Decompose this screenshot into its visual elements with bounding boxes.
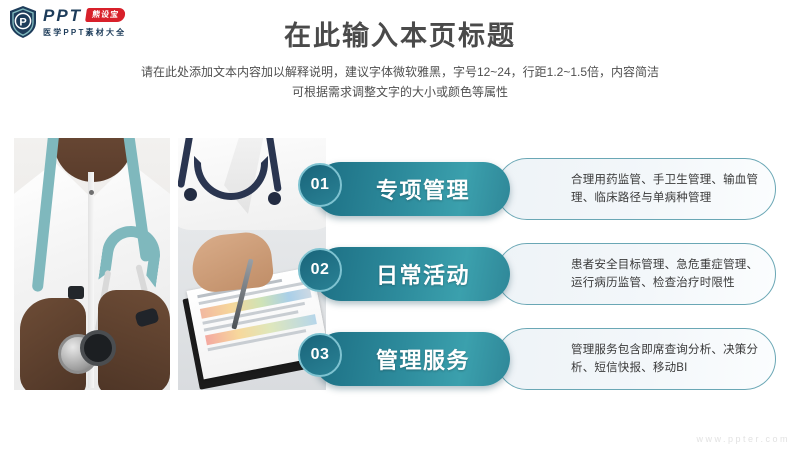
page-subtitle: 请在此处添加文本内容加以解释说明，建议字体微软雅黑，字号12~24，行距1.2~… xyxy=(0,62,800,102)
photo-a-tube-clip xyxy=(68,286,84,299)
category-label-03: 管理服务 xyxy=(376,332,470,386)
description-text-01: 合理用药监管、手卫生管理、输血管理、临床路径与单病种管理 xyxy=(571,171,761,207)
step-number-badge-02: 02 xyxy=(298,248,342,292)
category-label-01: 专项管理 xyxy=(376,162,470,216)
content-row-02[interactable]: 患者安全目标管理、急危重症管理、运行病历监管、检查治疗时限性 日常活动 02 xyxy=(306,243,776,305)
photo-b-earpiece-left xyxy=(184,188,197,201)
description-panel-01: 合理用药监管、手卫生管理、输血管理、临床路径与单病种管理 xyxy=(496,158,776,220)
category-pill-03[interactable]: 管理服务 xyxy=(314,332,510,386)
category-pill-02[interactable]: 日常活动 xyxy=(314,247,510,301)
photo-a-button xyxy=(89,190,94,195)
category-label-02: 日常活动 xyxy=(376,247,470,301)
photo-doctor-stethoscope xyxy=(14,138,170,390)
step-number-badge-01: 01 xyxy=(298,163,342,207)
step-number-badge-03: 03 xyxy=(298,333,342,377)
content-row-01[interactable]: 合理用药监管、手卫生管理、输血管理、临床路径与单病种管理 专项管理 01 xyxy=(306,158,776,220)
description-text-03: 管理服务包含即席查询分析、决策分析、短信快报、移动BI xyxy=(571,341,761,377)
subtitle-line-1: 请在此处添加文本内容加以解释说明，建议字体微软雅黑，字号12~24，行距1.2~… xyxy=(0,62,800,82)
photo-group xyxy=(14,138,326,390)
footer-watermark: www.ppter.com xyxy=(696,434,790,444)
category-pill-01[interactable]: 专项管理 xyxy=(314,162,510,216)
description-panel-02: 患者安全目标管理、急危重症管理、运行病历监管、检查治疗时限性 xyxy=(496,243,776,305)
content-row-03[interactable]: 管理服务包含即席查询分析、决策分析、短信快报、移动BI 管理服务 03 xyxy=(306,328,776,390)
page-title: 在此输入本页标题 xyxy=(0,14,800,53)
description-text-02: 患者安全目标管理、急危重症管理、运行病历监管、检查治疗时限性 xyxy=(571,256,761,292)
subtitle-line-2: 可根据需求调整文字的大小或颜色等属性 xyxy=(0,82,800,102)
photo-b-earpiece-right xyxy=(268,192,281,205)
photo-a-chestpiece-dark xyxy=(80,330,116,366)
description-panel-03: 管理服务包含即席查询分析、决策分析、短信快报、移动BI xyxy=(496,328,776,390)
